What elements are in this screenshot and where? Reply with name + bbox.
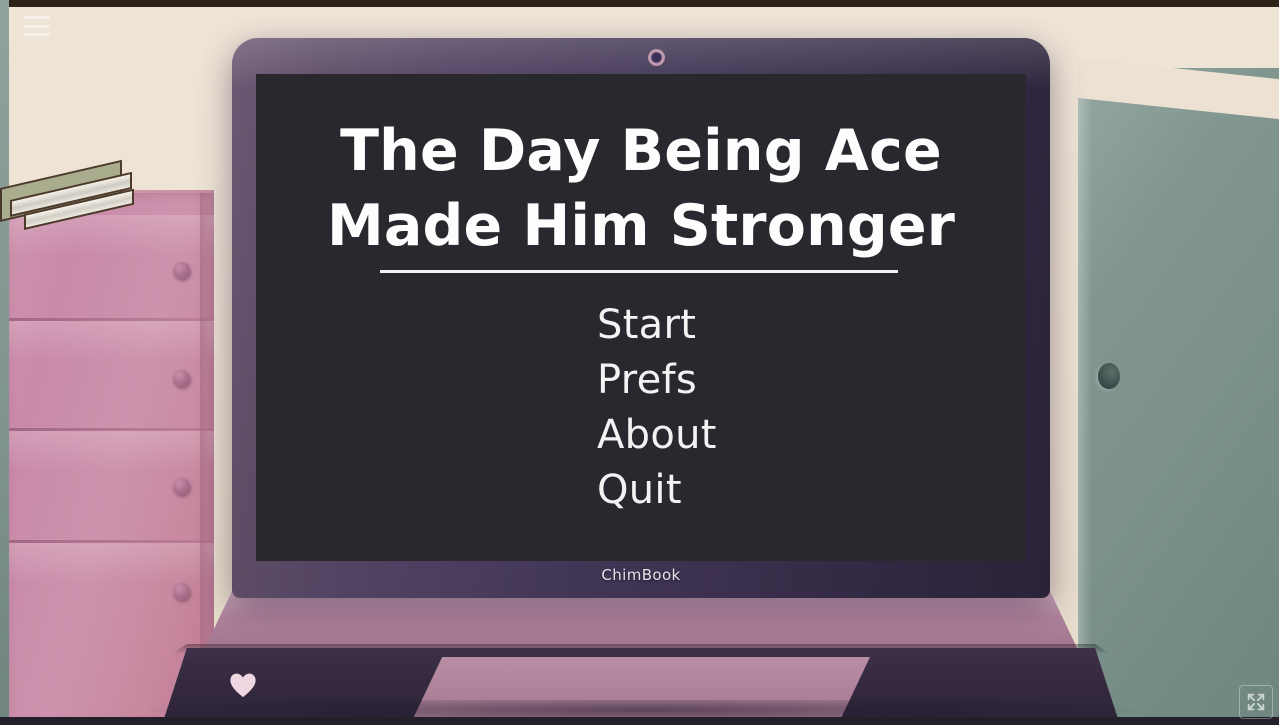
cabinet-knob bbox=[1098, 363, 1120, 389]
dresser-knob bbox=[173, 370, 190, 387]
menu-item-about[interactable]: About bbox=[597, 408, 717, 463]
hamburger-line bbox=[24, 16, 50, 19]
laptop-trackpad bbox=[410, 657, 870, 725]
menu-item-start[interactable]: Start bbox=[597, 298, 696, 353]
cabinet-edge-highlight bbox=[1078, 68, 1092, 725]
dresser-drawer-divider bbox=[9, 540, 214, 543]
dresser-knob bbox=[173, 583, 190, 600]
floor-strip bbox=[0, 717, 1279, 725]
menu-item-quit[interactable]: Quit bbox=[597, 463, 682, 518]
dresser-knob bbox=[173, 478, 190, 495]
cabinet bbox=[1078, 68, 1279, 725]
left-wall-edge bbox=[0, 0, 9, 725]
game-title-line-1: The Day Being Ace bbox=[256, 114, 1026, 189]
menu-item-prefs[interactable]: Prefs bbox=[597, 353, 697, 408]
dresser-knob bbox=[173, 262, 190, 279]
laptop-brand-label: ChimBook bbox=[232, 566, 1050, 584]
fullscreen-expand-icon[interactable] bbox=[1239, 685, 1273, 719]
dresser-drawer-divider bbox=[9, 428, 214, 431]
ceiling-trim bbox=[0, 0, 1279, 7]
game-title: The Day Being Ace Made Him Stronger bbox=[256, 114, 1026, 264]
webcam-icon bbox=[648, 49, 665, 66]
main-menu: Start Prefs About Quit bbox=[597, 298, 717, 518]
title-divider bbox=[380, 270, 898, 273]
heart-icon bbox=[228, 671, 258, 698]
hamburger-line bbox=[24, 25, 50, 28]
hamburger-line bbox=[24, 33, 50, 36]
dresser-drawer-divider bbox=[9, 318, 214, 321]
hamburger-menu-icon[interactable] bbox=[24, 16, 50, 36]
laptop-screen: The Day Being Ace Made Him Stronger Star… bbox=[256, 74, 1026, 561]
game-window: The Day Being Ace Made Him Stronger Star… bbox=[0, 0, 1279, 725]
game-title-line-2: Made Him Stronger bbox=[256, 189, 1026, 264]
